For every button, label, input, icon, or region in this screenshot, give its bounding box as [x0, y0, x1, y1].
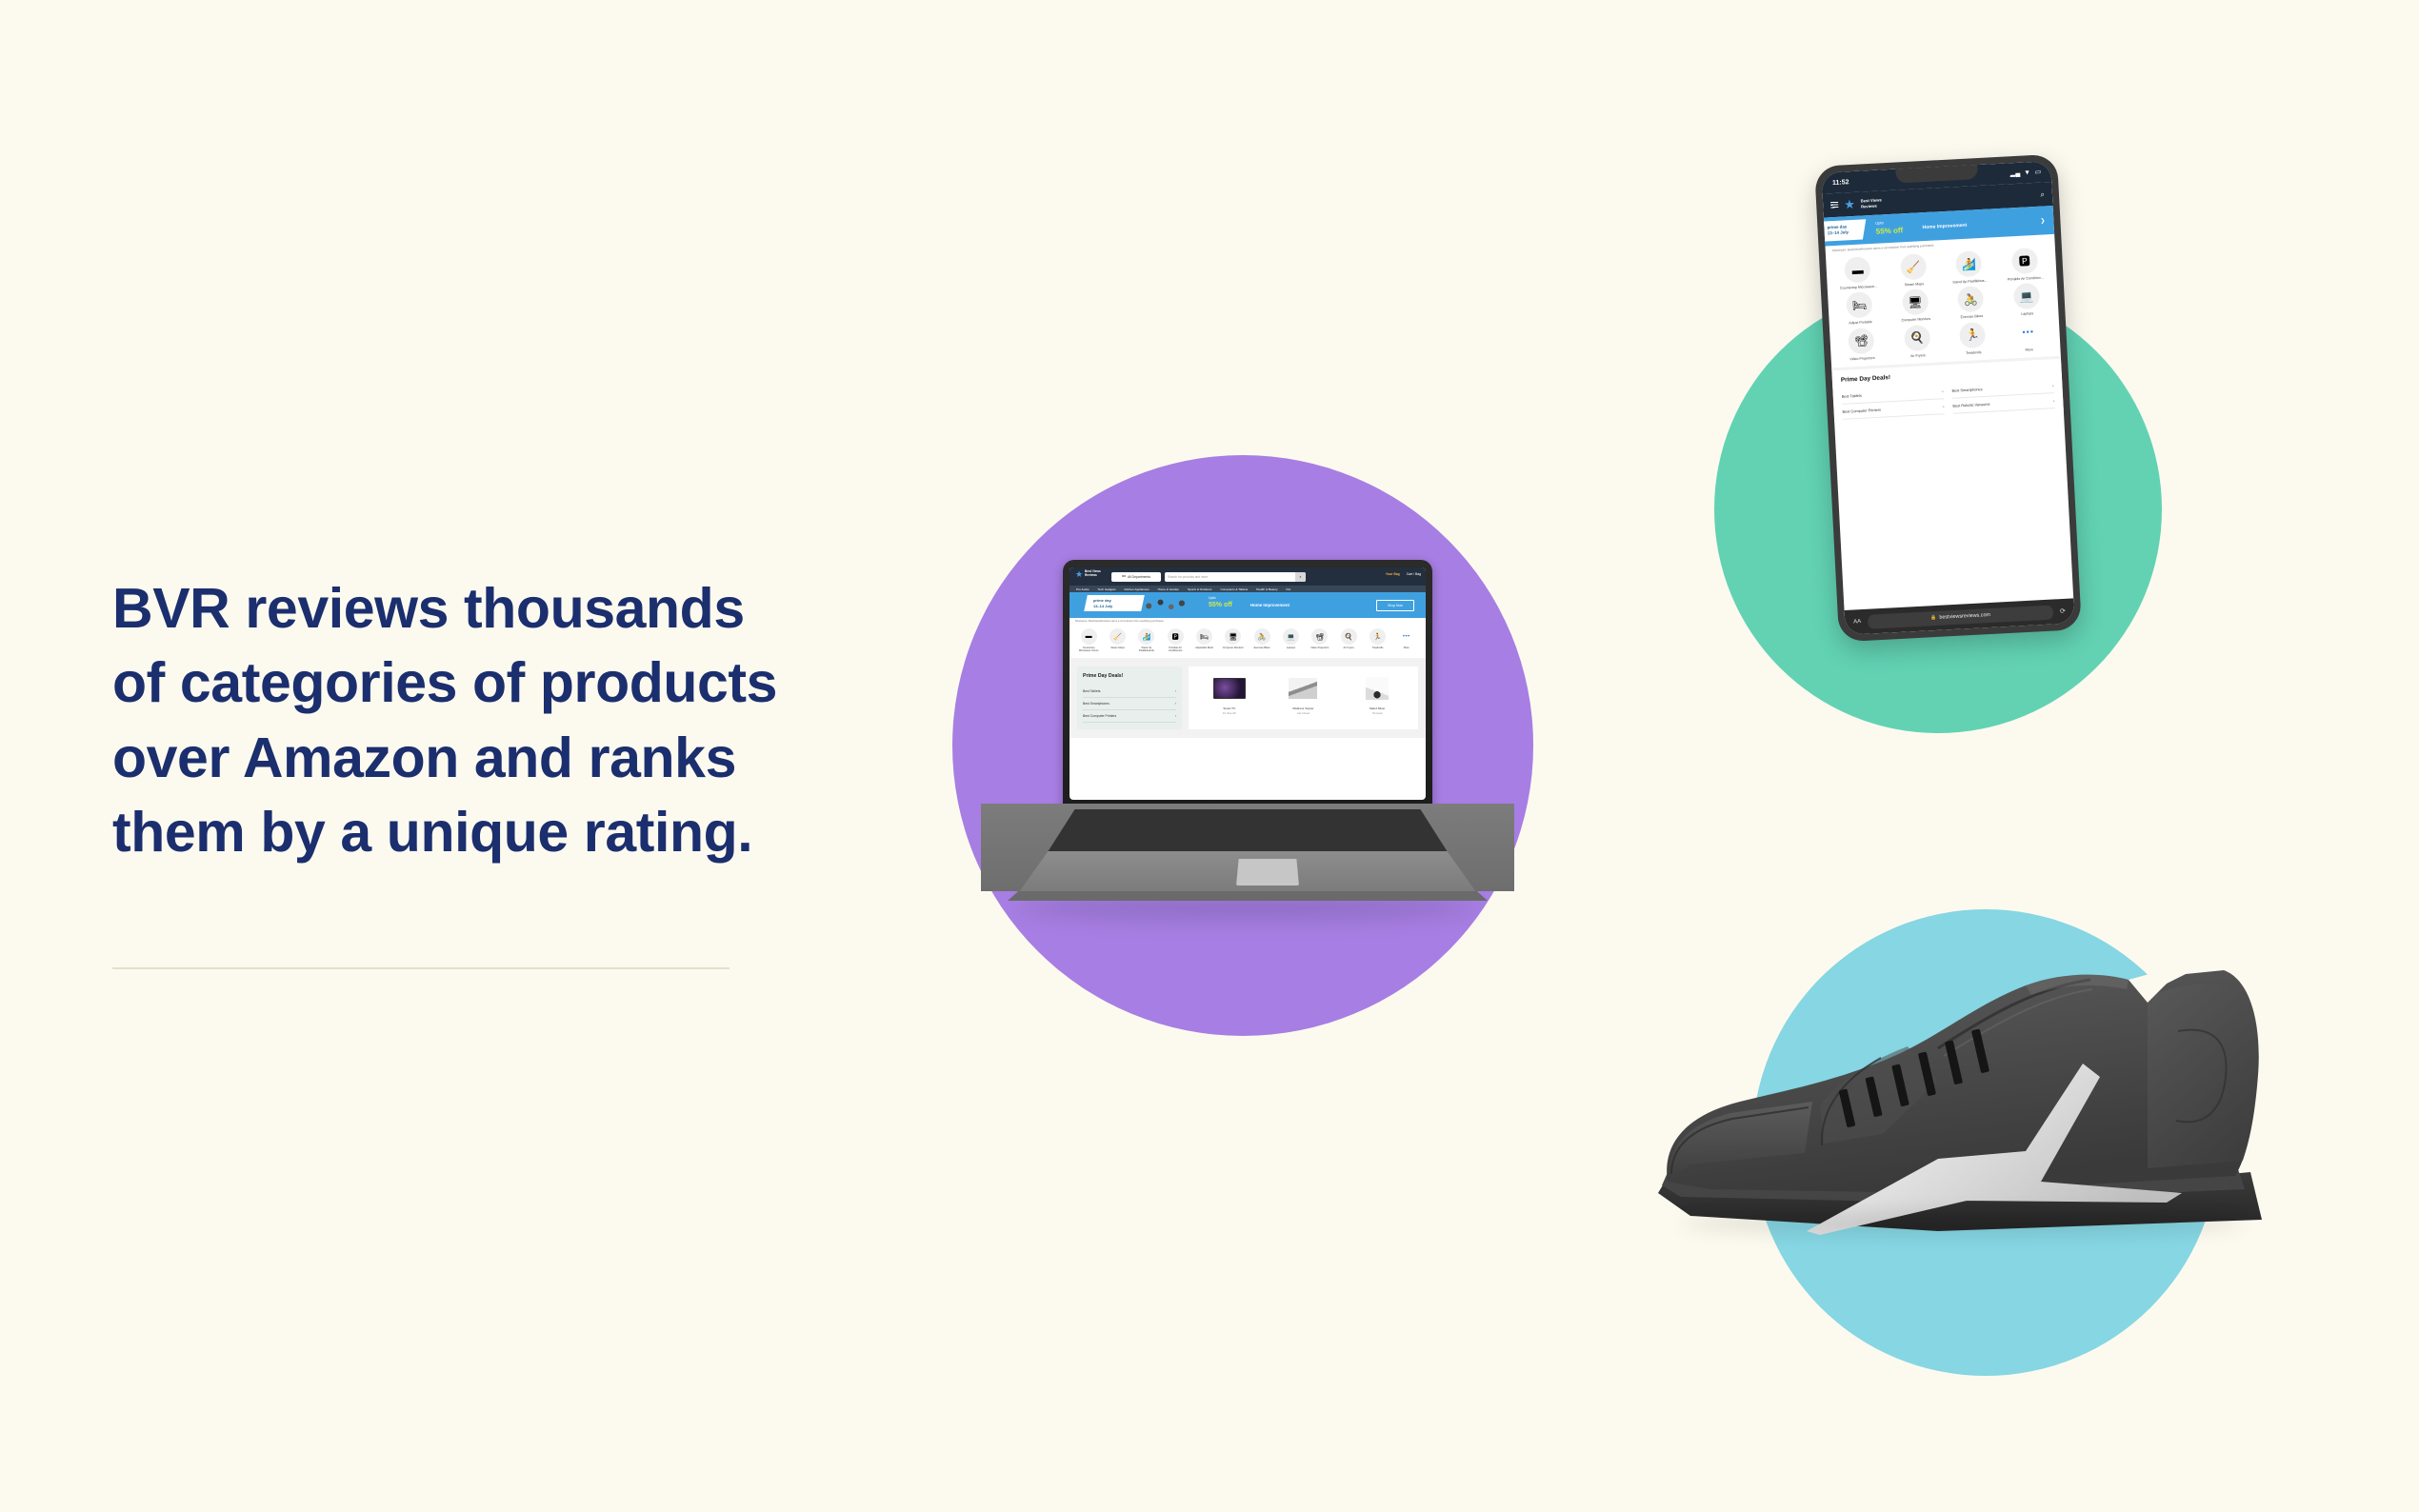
category-label: Adjustable Beds: [1192, 647, 1215, 649]
search-icon[interactable]: ⌕: [2040, 189, 2045, 199]
nav-item[interactable]: Sports & Outdoors: [1188, 587, 1211, 591]
exercise-bike-icon: 🚴: [1254, 628, 1270, 645]
category-label: Air Fryers: [1337, 647, 1360, 649]
category-tile[interactable]: ▬ Countertop Microwave Ovens: [1077, 628, 1100, 652]
product-card[interactable]: Stand Mixer Tilt-Head: [1354, 674, 1400, 722]
headline-line-2: of categories of products: [112, 646, 798, 720]
chevron-right-icon: ›: [2053, 399, 2055, 404]
search-input[interactable]: Search for products and more ⌕: [1165, 572, 1306, 582]
page-title: BVR reviews thousands of categories of p…: [112, 571, 798, 870]
monitor-icon: 🖥: [1902, 288, 1929, 315]
category-tile[interactable]: 🚴 Exercise Bikes: [1250, 628, 1273, 649]
cart-label[interactable]: Cart / Bag: [1407, 572, 1421, 576]
laptop-trackpad: [1236, 859, 1299, 885]
nav-item[interactable]: Pro Audio: [1076, 587, 1089, 591]
deals-link-row[interactable]: Best Tablets ›: [1083, 686, 1176, 698]
nav-item[interactable]: Health & Beauty: [1256, 587, 1277, 591]
category-tile[interactable]: 📽 Video Projectors: [1834, 327, 1889, 362]
banner-upto-label: Upto: [1875, 220, 1884, 225]
nav-item[interactable]: Home & Garden: [1158, 587, 1179, 591]
departments-dropdown[interactable]: All Departments: [1111, 572, 1161, 582]
promo-banner[interactable]: prime day13–14 July Upto 55% off Home Im…: [1070, 592, 1426, 618]
treadmill-icon: 🏃: [1959, 322, 1986, 348]
category-label: Treadmills: [1366, 647, 1389, 649]
category-tile[interactable]: 🏃 Treadmills: [1366, 628, 1389, 649]
category-label: Countertop Microwave...: [1832, 284, 1886, 290]
product-name: Smart TV: [1207, 706, 1252, 710]
bed-icon: 🛏: [1846, 292, 1872, 319]
category-row: ▬ Countertop Microwave Ovens 🧹 Steam Mop…: [1070, 625, 1426, 658]
hamburger-menu-icon[interactable]: [1830, 202, 1838, 209]
category-label: Laptops: [2001, 311, 2054, 318]
nav-item[interactable]: Pet: [1287, 587, 1291, 591]
bed-icon: 🛏: [1196, 628, 1212, 645]
category-label: More: [1395, 647, 1418, 649]
chevron-right-icon: ›: [1943, 405, 1945, 409]
site-nav: Pro Audio Tech Gadgets Kitchen Appliance…: [1070, 586, 1426, 592]
laptop-mockup: ★ Best ViewsReviews All Departments Sear…: [981, 560, 1514, 955]
treadmill-icon: 🏃: [1369, 628, 1386, 645]
chevron-right-icon[interactable]: ❯: [2040, 217, 2045, 224]
slide-canvas: BVR reviews thousands of categories of p…: [0, 0, 2419, 1512]
site-logo-text: Best ViewsReviews: [1085, 570, 1101, 577]
laptop-front-edge: [981, 891, 1514, 901]
laptop-icon: 💻: [2013, 283, 2040, 309]
category-tile[interactable]: 💻 Laptops: [1999, 283, 2053, 318]
category-tile[interactable]: 🧹 Steam Mops: [1106, 628, 1129, 649]
battery-icon: ▭: [2034, 169, 2041, 176]
url-field[interactable]: 🔒 bestviewsreviews.com: [1868, 605, 2054, 628]
banner-product-collage: [1138, 595, 1191, 613]
nav-item[interactable]: Computers & Tablets: [1220, 587, 1248, 591]
banner-discount: 55% off: [1876, 226, 1904, 235]
text-size-button[interactable]: AA: [1853, 619, 1861, 625]
banner-discount: 55% off: [1209, 602, 1232, 608]
status-icons: ▂▄ ▼ ▭: [2010, 169, 2041, 178]
headline-line-1: BVR reviews thousands: [112, 571, 798, 646]
microwave-icon: ▬: [1844, 256, 1870, 283]
reload-icon[interactable]: ⟳: [2060, 607, 2066, 615]
category-tile[interactable]: 🏃 Treadmills: [1946, 321, 2000, 356]
paddleboard-icon: 🏄: [1955, 250, 1982, 277]
chevron-right-icon: ›: [1942, 389, 1944, 394]
category-label: Stand Up Paddleboa...: [1944, 278, 1997, 285]
category-tile[interactable]: 🛏 Adjust Portable: [1832, 291, 1887, 327]
deals-link-label: Best Tablets: [1083, 689, 1100, 693]
category-tile[interactable]: 🍳 Air Fryers: [1337, 628, 1360, 649]
nav-item[interactable]: Tech Gadgets: [1097, 587, 1115, 591]
category-label: Portable Air Condition...: [1999, 275, 2052, 282]
header-actions: Your Bag Cart / Bag: [1386, 572, 1421, 576]
headline-line-3: over Amazon and ranks: [112, 721, 798, 795]
phone-category-grid: ▬ Countertop Microwave... 🧹 Steam Mops 🏄…: [1826, 243, 2061, 368]
category-label: Video Projectors: [1836, 355, 1889, 362]
status-time: 11:52: [1832, 179, 1849, 187]
banner-category: Home Improvement: [1250, 603, 1289, 607]
deals-sidebar: Prime Day Deals! Best Tablets › Best Sma…: [1077, 666, 1182, 729]
banner-upto-label: Upto: [1209, 596, 1216, 600]
mattress-thumbnail: [1280, 674, 1326, 703]
product-grid: Smart TV 4K Ultra HD Mattress Topper Gel…: [1189, 666, 1418, 729]
category-tile[interactable]: 🖥 Computer Monitors: [1222, 628, 1245, 649]
chevron-right-icon: ›: [2052, 384, 2054, 388]
product-name: Mattress Topper: [1280, 706, 1326, 710]
category-label: Video Projectors: [1309, 647, 1331, 649]
banner-category: Home Improvement: [1922, 223, 1967, 230]
tv-thumbnail: [1207, 674, 1252, 703]
laptop-lid: ★ Best ViewsReviews All Departments Sear…: [1063, 560, 1432, 809]
category-tile-more[interactable]: ••• More: [2001, 318, 2055, 353]
deals-link-label: Best Smartphones: [1951, 388, 1982, 394]
chevron-right-icon: ›: [1175, 702, 1176, 706]
deals-link-grid: Best Tablets › Best Smartphones › Best C…: [1841, 379, 2054, 421]
deals-section: Prime Day Deals! Best Tablets › Best Sma…: [1070, 658, 1426, 738]
category-label: Exercise Bikes: [1250, 647, 1273, 649]
product-card[interactable]: Smart TV 4K Ultra HD: [1207, 674, 1252, 722]
category-tile[interactable]: 📽 Video Projectors: [1309, 628, 1331, 649]
category-label: Treadmills: [1947, 349, 2000, 356]
star-icon: ★: [1075, 570, 1083, 578]
account-label[interactable]: Your Bag: [1386, 572, 1400, 576]
category-tile[interactable]: 🛏 Adjustable Beds: [1192, 628, 1215, 649]
sneaker-shadow: [1681, 1212, 2243, 1235]
deals-link-label: Best Computer Printers: [1083, 714, 1116, 718]
product-sub: 4K Ultra HD: [1207, 712, 1252, 715]
category-label: Air Fryers: [1891, 352, 1945, 359]
category-tile[interactable]: 🅿 Portable Air Condition...: [1997, 247, 2051, 282]
category-label: Adjust Portable: [1834, 320, 1888, 327]
category-tile[interactable]: 🍳 Air Fryers: [1889, 324, 1944, 359]
prime-day-tag-text: prime day13–14 July: [1093, 598, 1112, 608]
sneaker-illustration: [1652, 957, 2281, 1262]
deals-link-label: Best Tablets: [1842, 393, 1862, 399]
signal-bars-icon: ▂▄: [2010, 169, 2021, 178]
category-label: Laptops: [1279, 647, 1302, 649]
laptop-icon: 💻: [1283, 628, 1299, 645]
category-label: Steam Mops: [1888, 281, 1941, 288]
hamburger-menu-icon: [1122, 575, 1126, 578]
more-dots-icon: •••: [1398, 628, 1414, 645]
deals-link-label: Best Smartphones: [1083, 702, 1110, 706]
product-card[interactable]: Mattress Topper Gel Infused: [1280, 674, 1326, 722]
category-label: Portable Air Conditioners: [1164, 647, 1187, 652]
category-tile[interactable]: 🏄 Stand Up Paddleboards: [1135, 628, 1158, 652]
paddleboard-icon: 🏄: [1138, 628, 1154, 645]
monitor-icon: 🖥: [1225, 628, 1241, 645]
chevron-right-icon: ›: [1175, 714, 1176, 718]
air-fryer-icon: 🍳: [1904, 325, 1930, 351]
category-tile[interactable]: 🏄 Stand Up Paddleboa...: [1942, 249, 1996, 285]
lock-icon: 🔒: [1930, 615, 1937, 621]
deals-link-label: Best Computer Printers: [1842, 408, 1881, 414]
prime-day-tag: prime day13–14 July: [1821, 219, 1866, 242]
category-label: Steam Mops: [1106, 647, 1129, 649]
exercise-bike-icon: 🚴: [1957, 286, 1984, 312]
air-fryer-icon: 🍳: [1341, 628, 1357, 645]
affiliate-disclaimer: Disclosure: BestViewsReviews earns a com…: [1070, 618, 1426, 625]
product-name: Stand Mixer: [1354, 706, 1400, 710]
category-tile-more[interactable]: ••• More: [1395, 628, 1418, 649]
deals-link-row[interactable]: Best Computer Printers ›: [1083, 710, 1176, 723]
departments-label: All Departments: [1128, 575, 1150, 579]
wifi-icon: ▼: [2024, 169, 2030, 176]
air-conditioner-icon: 🅿: [2011, 248, 2038, 274]
microwave-icon: ▬: [1081, 628, 1097, 645]
star-icon: ★: [1844, 198, 1855, 211]
nav-item[interactable]: Kitchen Appliances: [1125, 587, 1150, 591]
chevron-right-icon: ›: [1175, 689, 1176, 693]
projector-icon: 📽: [1311, 628, 1328, 645]
category-label: More: [2003, 347, 2056, 353]
category-tile[interactable]: 🧹 Steam Mops: [1887, 252, 1941, 288]
product-sub: Tilt-Head: [1354, 712, 1400, 715]
url-text: bestviewsreviews.com: [1939, 612, 1990, 621]
steam-mop-icon: 🧹: [1900, 253, 1927, 280]
deals-link-row[interactable]: Best Smartphones ›: [1083, 698, 1176, 710]
site-logo[interactable]: ★ Best ViewsReviews: [1075, 570, 1101, 578]
product-sub: Gel Infused: [1280, 712, 1326, 715]
category-tile[interactable]: 🖥 Computer Monitors: [1889, 288, 1943, 324]
phone-mockup: 11:52 ▂▄ ▼ ▭ ★ Best ViewsReviews ⌕ prime…: [1814, 154, 2082, 643]
more-dots-icon: •••: [2015, 319, 2042, 346]
category-label: Computer Monitors: [1889, 317, 1943, 324]
laptop-screen: ★ Best ViewsReviews All Departments Sear…: [1070, 567, 1426, 800]
category-tile[interactable]: 🅿 Portable Air Conditioners: [1164, 628, 1187, 652]
prime-day-tag-text: prime day13–14 July: [1827, 224, 1849, 236]
category-label: Computer Monitors: [1222, 647, 1245, 649]
air-conditioner-icon: 🅿: [1168, 628, 1184, 645]
category-label: Exercise Bikes: [1946, 314, 1999, 321]
phone-screen: 11:52 ▂▄ ▼ ▭ ★ Best ViewsReviews ⌕ prime…: [1821, 161, 2074, 635]
category-tile[interactable]: ▬ Countertop Microwave...: [1830, 255, 1885, 290]
search-icon[interactable]: ⌕: [1295, 572, 1306, 582]
search-placeholder: Search for products and more: [1165, 575, 1208, 579]
category-label: Countertop Microwave Ovens: [1077, 647, 1100, 652]
deals-title: Prime Day Deals!: [1083, 673, 1176, 679]
category-tile[interactable]: 🚴 Exercise Bikes: [1944, 286, 1998, 321]
steam-mop-icon: 🧹: [1110, 628, 1126, 645]
mixer-thumbnail: [1354, 674, 1400, 703]
projector-icon: 📽: [1848, 328, 1874, 354]
headline-block: BVR reviews thousands of categories of p…: [112, 571, 798, 870]
deals-link-label: Best Robotic Vacuums: [1952, 402, 1989, 408]
site-header: ★ Best ViewsReviews All Departments Sear…: [1070, 567, 1426, 586]
headline-line-4: them by a unique rating.: [112, 795, 798, 869]
category-label: Stand Up Paddleboards: [1135, 647, 1158, 652]
phone-deals-section: Prime Day Deals! Best Tablets › Best Sma…: [1831, 356, 2064, 424]
phone-logo-text: Best ViewsReviews: [1861, 198, 1883, 209]
category-tile[interactable]: 💻 Laptops: [1279, 628, 1302, 649]
shop-now-button[interactable]: Shop Now: [1376, 600, 1414, 611]
prime-day-tag: prime day13–14 July: [1084, 595, 1145, 611]
divider-rule: [112, 967, 730, 969]
